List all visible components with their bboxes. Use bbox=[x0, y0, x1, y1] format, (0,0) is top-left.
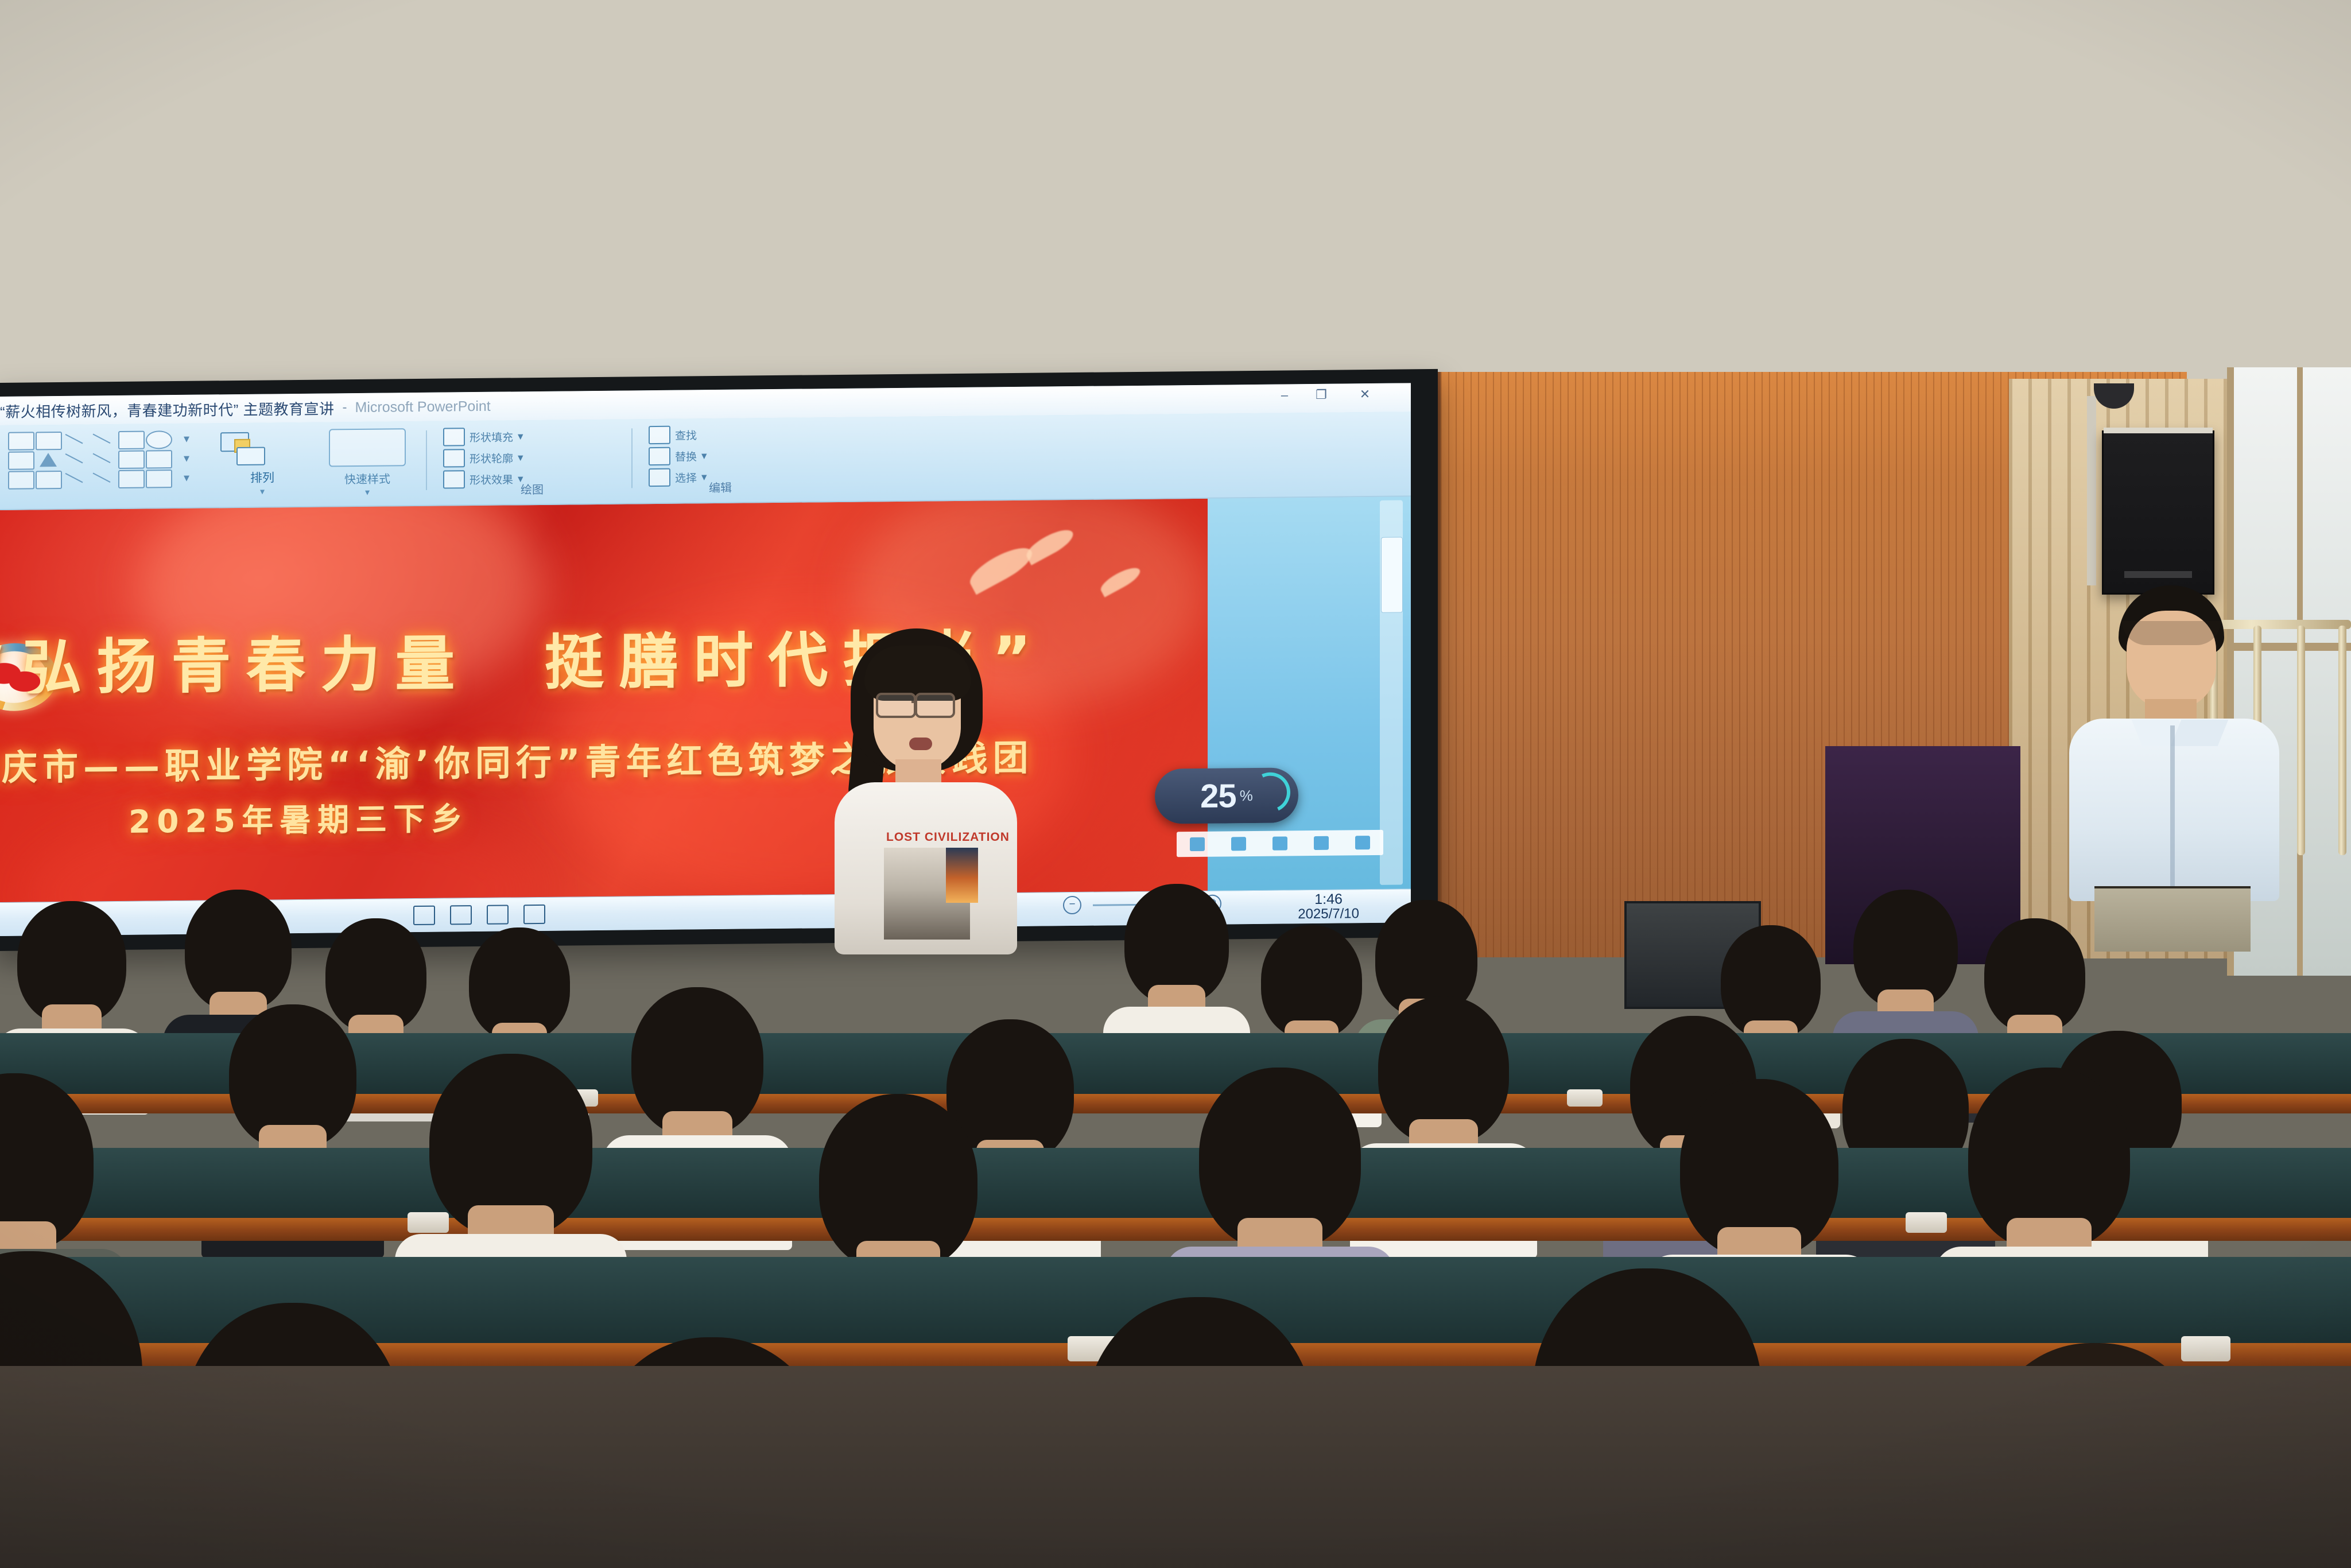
glasses-lens-right bbox=[915, 693, 955, 718]
slide-pane-background: 25 % bbox=[1208, 496, 1411, 891]
replace-label: 替换 bbox=[675, 448, 697, 464]
screenshot-icon[interactable] bbox=[1231, 837, 1246, 851]
ribbon-group-quickstyle[interactable]: 快速样式 ▾ bbox=[316, 428, 419, 498]
powerpoint-ribbon[interactable]: ▾ ▾ ▾ bbox=[0, 412, 1411, 510]
share-icon[interactable] bbox=[1273, 836, 1287, 850]
floating-mini-toolbar[interactable] bbox=[1177, 830, 1383, 857]
ribbon-group-editing[interactable]: 查找 替换 ▾ 选择 ▾ 编辑 bbox=[649, 425, 792, 495]
shape-more-icon-2[interactable]: ▾ bbox=[173, 450, 200, 468]
status-badge: 25 % bbox=[1155, 767, 1298, 824]
tshirt-graphic-secondary bbox=[946, 848, 978, 903]
find-label: 查找 bbox=[675, 427, 697, 443]
standing-man bbox=[2069, 585, 2282, 941]
lecture-hall-photo: “薪火相传树新风，青春建功新时代” 主题教育宣讲 - Microsoft Pow… bbox=[0, 0, 2351, 1568]
vertical-scrollbar[interactable] bbox=[1380, 500, 1403, 885]
shape-more-icon[interactable]: ▾ bbox=[173, 430, 200, 449]
replace-icon[interactable] bbox=[649, 447, 670, 465]
wall-loudspeaker bbox=[2102, 430, 2214, 595]
shape-more-icon-3[interactable]: ▾ bbox=[173, 469, 200, 488]
arrange-dropdown-icon[interactable]: ▾ bbox=[219, 486, 305, 498]
right-arrow-shape-icon[interactable] bbox=[118, 451, 145, 469]
line-shape-icon[interactable] bbox=[63, 431, 90, 449]
text-box-shape-icon[interactable] bbox=[8, 432, 34, 450]
quick-style-preview-icon[interactable] bbox=[329, 428, 406, 467]
replace-dropdown-icon[interactable]: ▾ bbox=[701, 449, 707, 463]
drawing-group-label: 绘图 bbox=[443, 480, 621, 498]
arrange-label: 排列 bbox=[219, 468, 305, 486]
title-separator: - bbox=[343, 399, 347, 416]
presenter-mouth bbox=[909, 738, 932, 750]
restore-button[interactable]: ❐ bbox=[1310, 387, 1333, 402]
close-button[interactable]: ✕ bbox=[1353, 387, 1376, 402]
floor bbox=[0, 1366, 2351, 1568]
projected-powerpoint-window[interactable]: “薪火相传树新风，青春建功新时代” 主题教育宣讲 - Microsoft Pow… bbox=[0, 383, 1411, 936]
editing-group-label: 编辑 bbox=[649, 478, 792, 496]
elbow-arrow-icon[interactable] bbox=[91, 451, 117, 469]
shape-gallery[interactable]: ▾ ▾ ▾ bbox=[8, 430, 209, 489]
curve-shape-icon[interactable] bbox=[63, 470, 90, 488]
find-row[interactable]: 查找 bbox=[649, 425, 792, 444]
quickstyle-dropdown-icon[interactable]: ▾ bbox=[316, 486, 419, 499]
badge-value: 25 bbox=[1200, 777, 1236, 816]
rectangle-shape-icon[interactable] bbox=[118, 431, 145, 449]
speaker-mount-bracket bbox=[2087, 396, 2096, 585]
tshirt-text: LOST CIVILIZATION bbox=[886, 830, 1010, 844]
flowchart-shape-icon[interactable] bbox=[36, 471, 62, 489]
quickstyle-label: 快速样式 bbox=[316, 469, 419, 487]
glasses-bridge bbox=[911, 701, 916, 703]
shape-outline-row[interactable]: 形状轮廓 ▾ bbox=[443, 448, 621, 468]
cloud-shape-icon[interactable] bbox=[8, 471, 34, 489]
window-title: “薪火相传树新风，青春建功新时代” 主题教育宣讲 bbox=[0, 397, 335, 422]
slide-pane[interactable]: “弘扬青春力量 挺膳时代担当” 重庆市——职业学院“‘渝’你同行”青年红色筑梦之… bbox=[0, 499, 1208, 903]
right-brace-shape-icon[interactable] bbox=[146, 469, 172, 488]
wrench-icon[interactable] bbox=[1355, 836, 1370, 849]
shape-outline-dropdown-icon[interactable]: ▾ bbox=[518, 451, 523, 464]
arrange-icon[interactable] bbox=[219, 430, 264, 467]
ribbon-group-arrange[interactable]: 排列 ▾ bbox=[219, 429, 305, 499]
oval-shape-icon[interactable] bbox=[146, 430, 172, 449]
banner-date-line: 2025年暑期三下乡 bbox=[129, 793, 469, 842]
elbow-connector-icon[interactable] bbox=[63, 451, 90, 469]
left-brace-shape-icon[interactable] bbox=[118, 470, 145, 488]
arrow-shape-icon[interactable] bbox=[91, 431, 117, 449]
projection-screen-bezel: “薪火相传树新风，青春建功新时代” 主题教育宣讲 - Microsoft Pow… bbox=[0, 369, 1438, 951]
scrollbar-thumb[interactable] bbox=[1381, 537, 1403, 613]
arc-shape-icon[interactable] bbox=[91, 470, 117, 488]
minimize-button[interactable]: – bbox=[1273, 387, 1296, 402]
shape-outline-icon[interactable] bbox=[443, 449, 465, 467]
man-hair-fade bbox=[2122, 621, 2221, 645]
red-banner-slide[interactable]: “弘扬青春力量 挺膳时代担当” 重庆市——职业学院“‘渝’你同行”青年红色筑梦之… bbox=[0, 499, 1208, 903]
powerpoint-workspace[interactable]: “弘扬青春力量 挺膳时代担当” 重庆市——职业学院“‘渝’你同行”青年红色筑梦之… bbox=[0, 496, 1411, 903]
shape-fill-dropdown-icon[interactable]: ▾ bbox=[518, 430, 523, 443]
rounded-rect-shape-icon[interactable] bbox=[8, 451, 34, 469]
cleanup-icon[interactable] bbox=[1314, 836, 1329, 850]
shape-fill-label: 形状填充 bbox=[470, 429, 513, 445]
down-arrow-shape-icon[interactable] bbox=[146, 450, 172, 468]
man-shirt-placket bbox=[2170, 725, 2175, 898]
triangle-shape-icon[interactable] bbox=[36, 451, 62, 469]
app-name: Microsoft PowerPoint bbox=[355, 398, 491, 416]
shape-fill-icon[interactable] bbox=[443, 428, 465, 446]
shape-fill-row[interactable]: 形状填充 ▾ bbox=[443, 426, 621, 447]
shape-outline-label: 形状轮廓 bbox=[470, 450, 513, 466]
badge-unit: % bbox=[1240, 787, 1253, 805]
ribbon-group-format[interactable]: 形状填充 ▾ 形状轮廓 ▾ 形状效果 ▾ 绘图 bbox=[443, 426, 621, 497]
find-icon[interactable] bbox=[649, 426, 670, 444]
ribbon-group-shapes[interactable]: ▾ ▾ ▾ bbox=[8, 430, 209, 500]
replace-row[interactable]: 替换 ▾ bbox=[649, 446, 792, 465]
glasses-lens-left bbox=[876, 693, 916, 718]
download-icon[interactable] bbox=[1190, 837, 1205, 851]
picture-shape-icon[interactable] bbox=[36, 432, 62, 450]
